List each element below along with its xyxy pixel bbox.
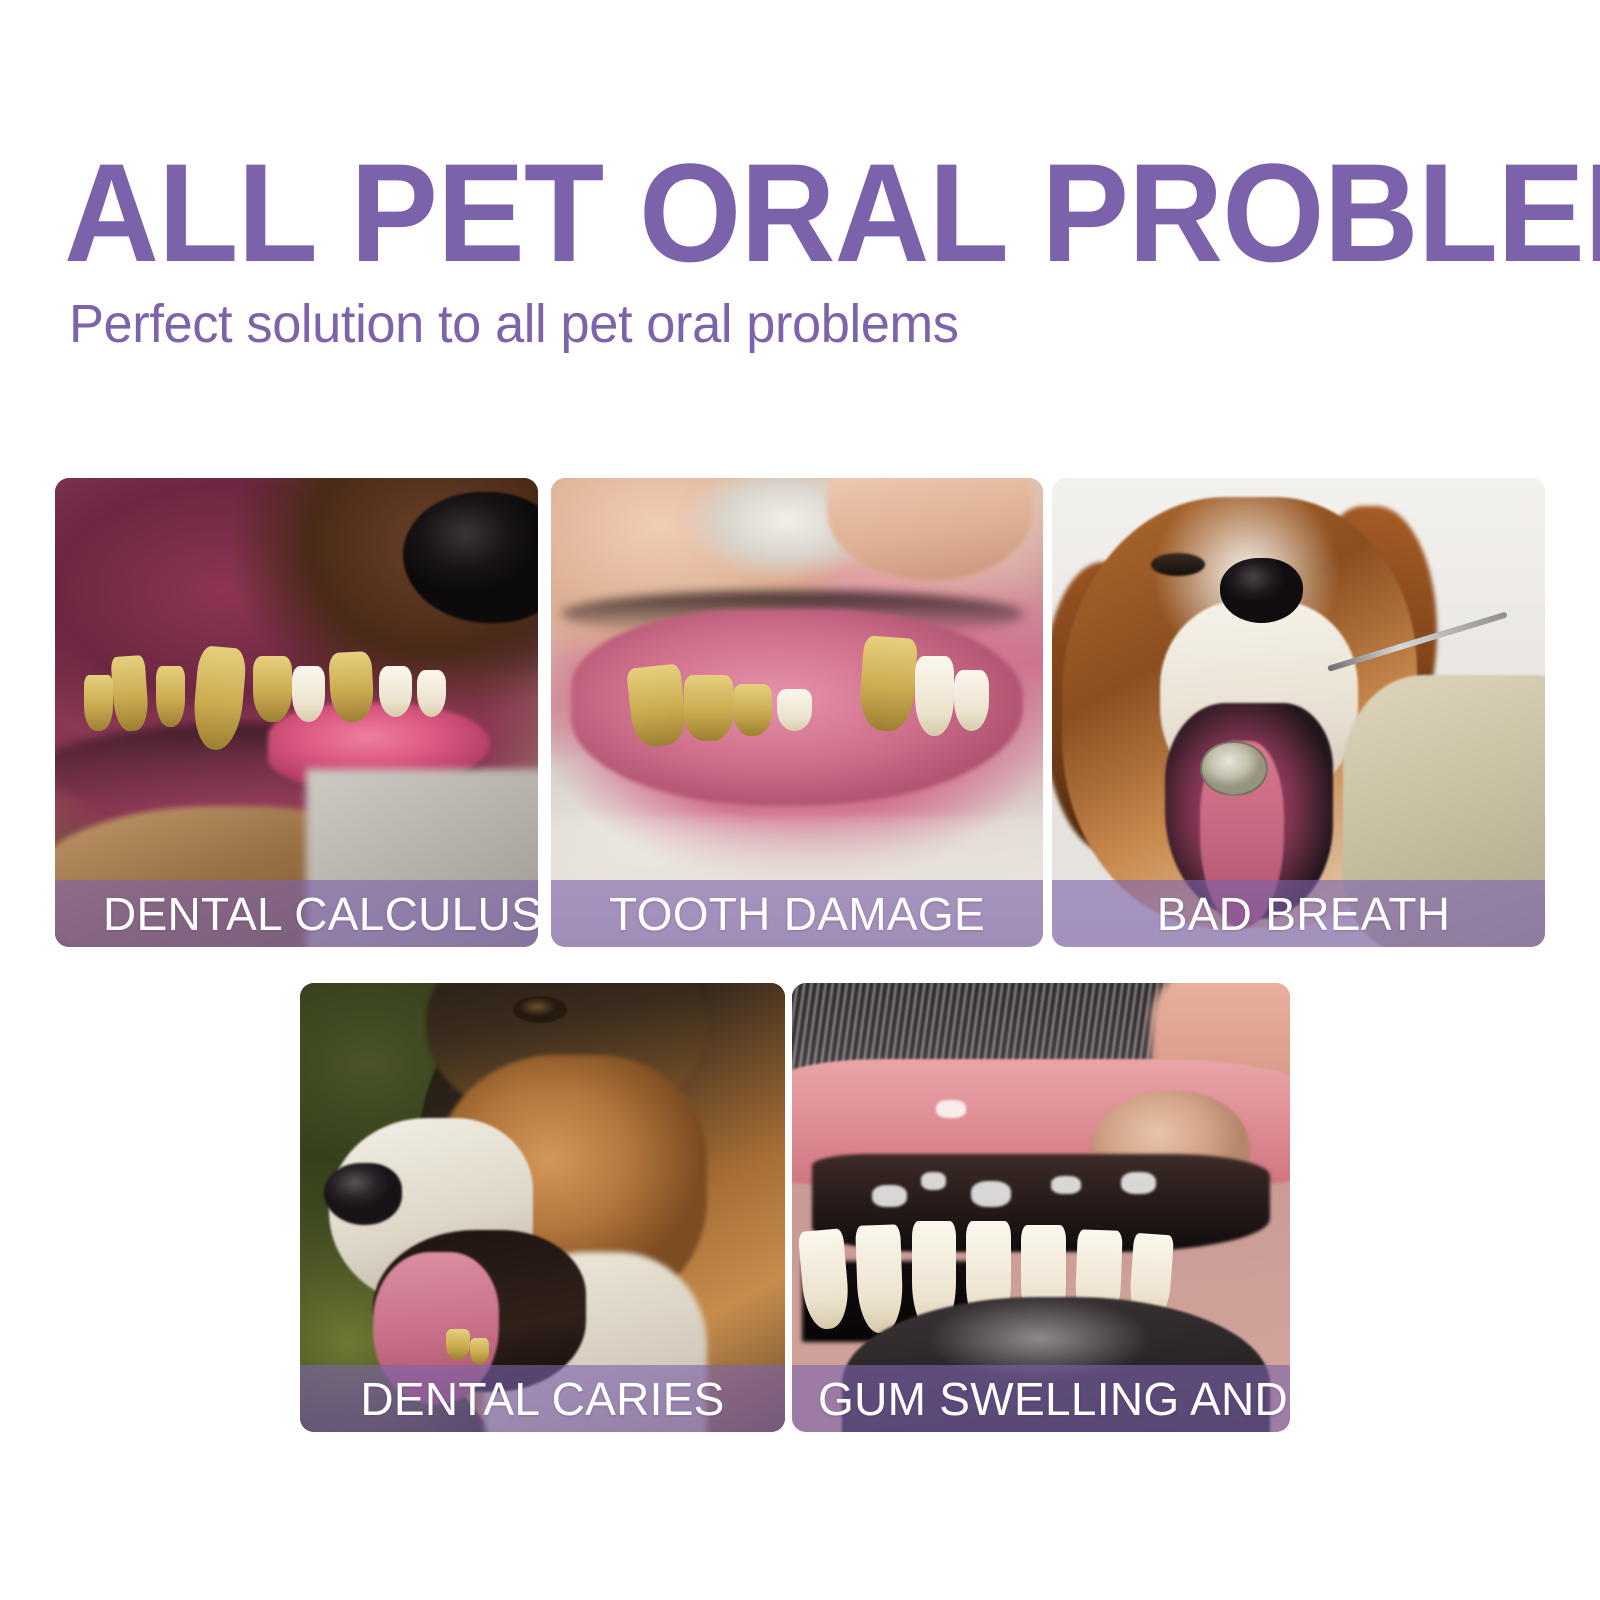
card-label-text: TOOTH DAMAGE	[609, 890, 985, 938]
card-label-bar: BAD BREATH	[1052, 880, 1545, 947]
poster-canvas: ALL PET ORAL PROBLEMS Perfect solution t…	[0, 0, 1600, 1600]
bad-breath-photo	[1052, 478, 1545, 947]
dental-calculus-photo	[55, 478, 538, 947]
card-label-text: DENTAL CARIES	[360, 1375, 724, 1423]
problem-card-bad-breath[interactable]: BAD BREATH	[1052, 478, 1545, 947]
page-title: ALL PET ORAL PROBLEMS	[64, 143, 1600, 283]
card-label-bar: GUM SWELLING AND PAIN	[792, 1365, 1290, 1432]
page-subtitle: Perfect solution to all pet oral problem…	[69, 294, 959, 354]
problem-card-dental-calculus[interactable]: DENTAL CALCULUS	[55, 478, 538, 947]
problem-card-dental-caries[interactable]: DENTAL CARIES	[300, 983, 785, 1432]
card-label-bar: DENTAL CALCULUS	[55, 880, 538, 947]
problem-card-tooth-damage[interactable]: TOOTH DAMAGE	[551, 478, 1043, 947]
card-label-text: BAD BREATH	[1157, 890, 1451, 938]
card-label-text: GUM SWELLING AND PAIN	[818, 1375, 1290, 1423]
card-label-bar: DENTAL CARIES	[300, 1365, 785, 1432]
problem-card-gum-swelling[interactable]: GUM SWELLING AND PAIN	[792, 983, 1290, 1432]
card-label-bar: TOOTH DAMAGE	[551, 880, 1043, 947]
tooth-damage-photo	[551, 478, 1043, 947]
card-label-text: DENTAL CALCULUS	[103, 890, 538, 938]
